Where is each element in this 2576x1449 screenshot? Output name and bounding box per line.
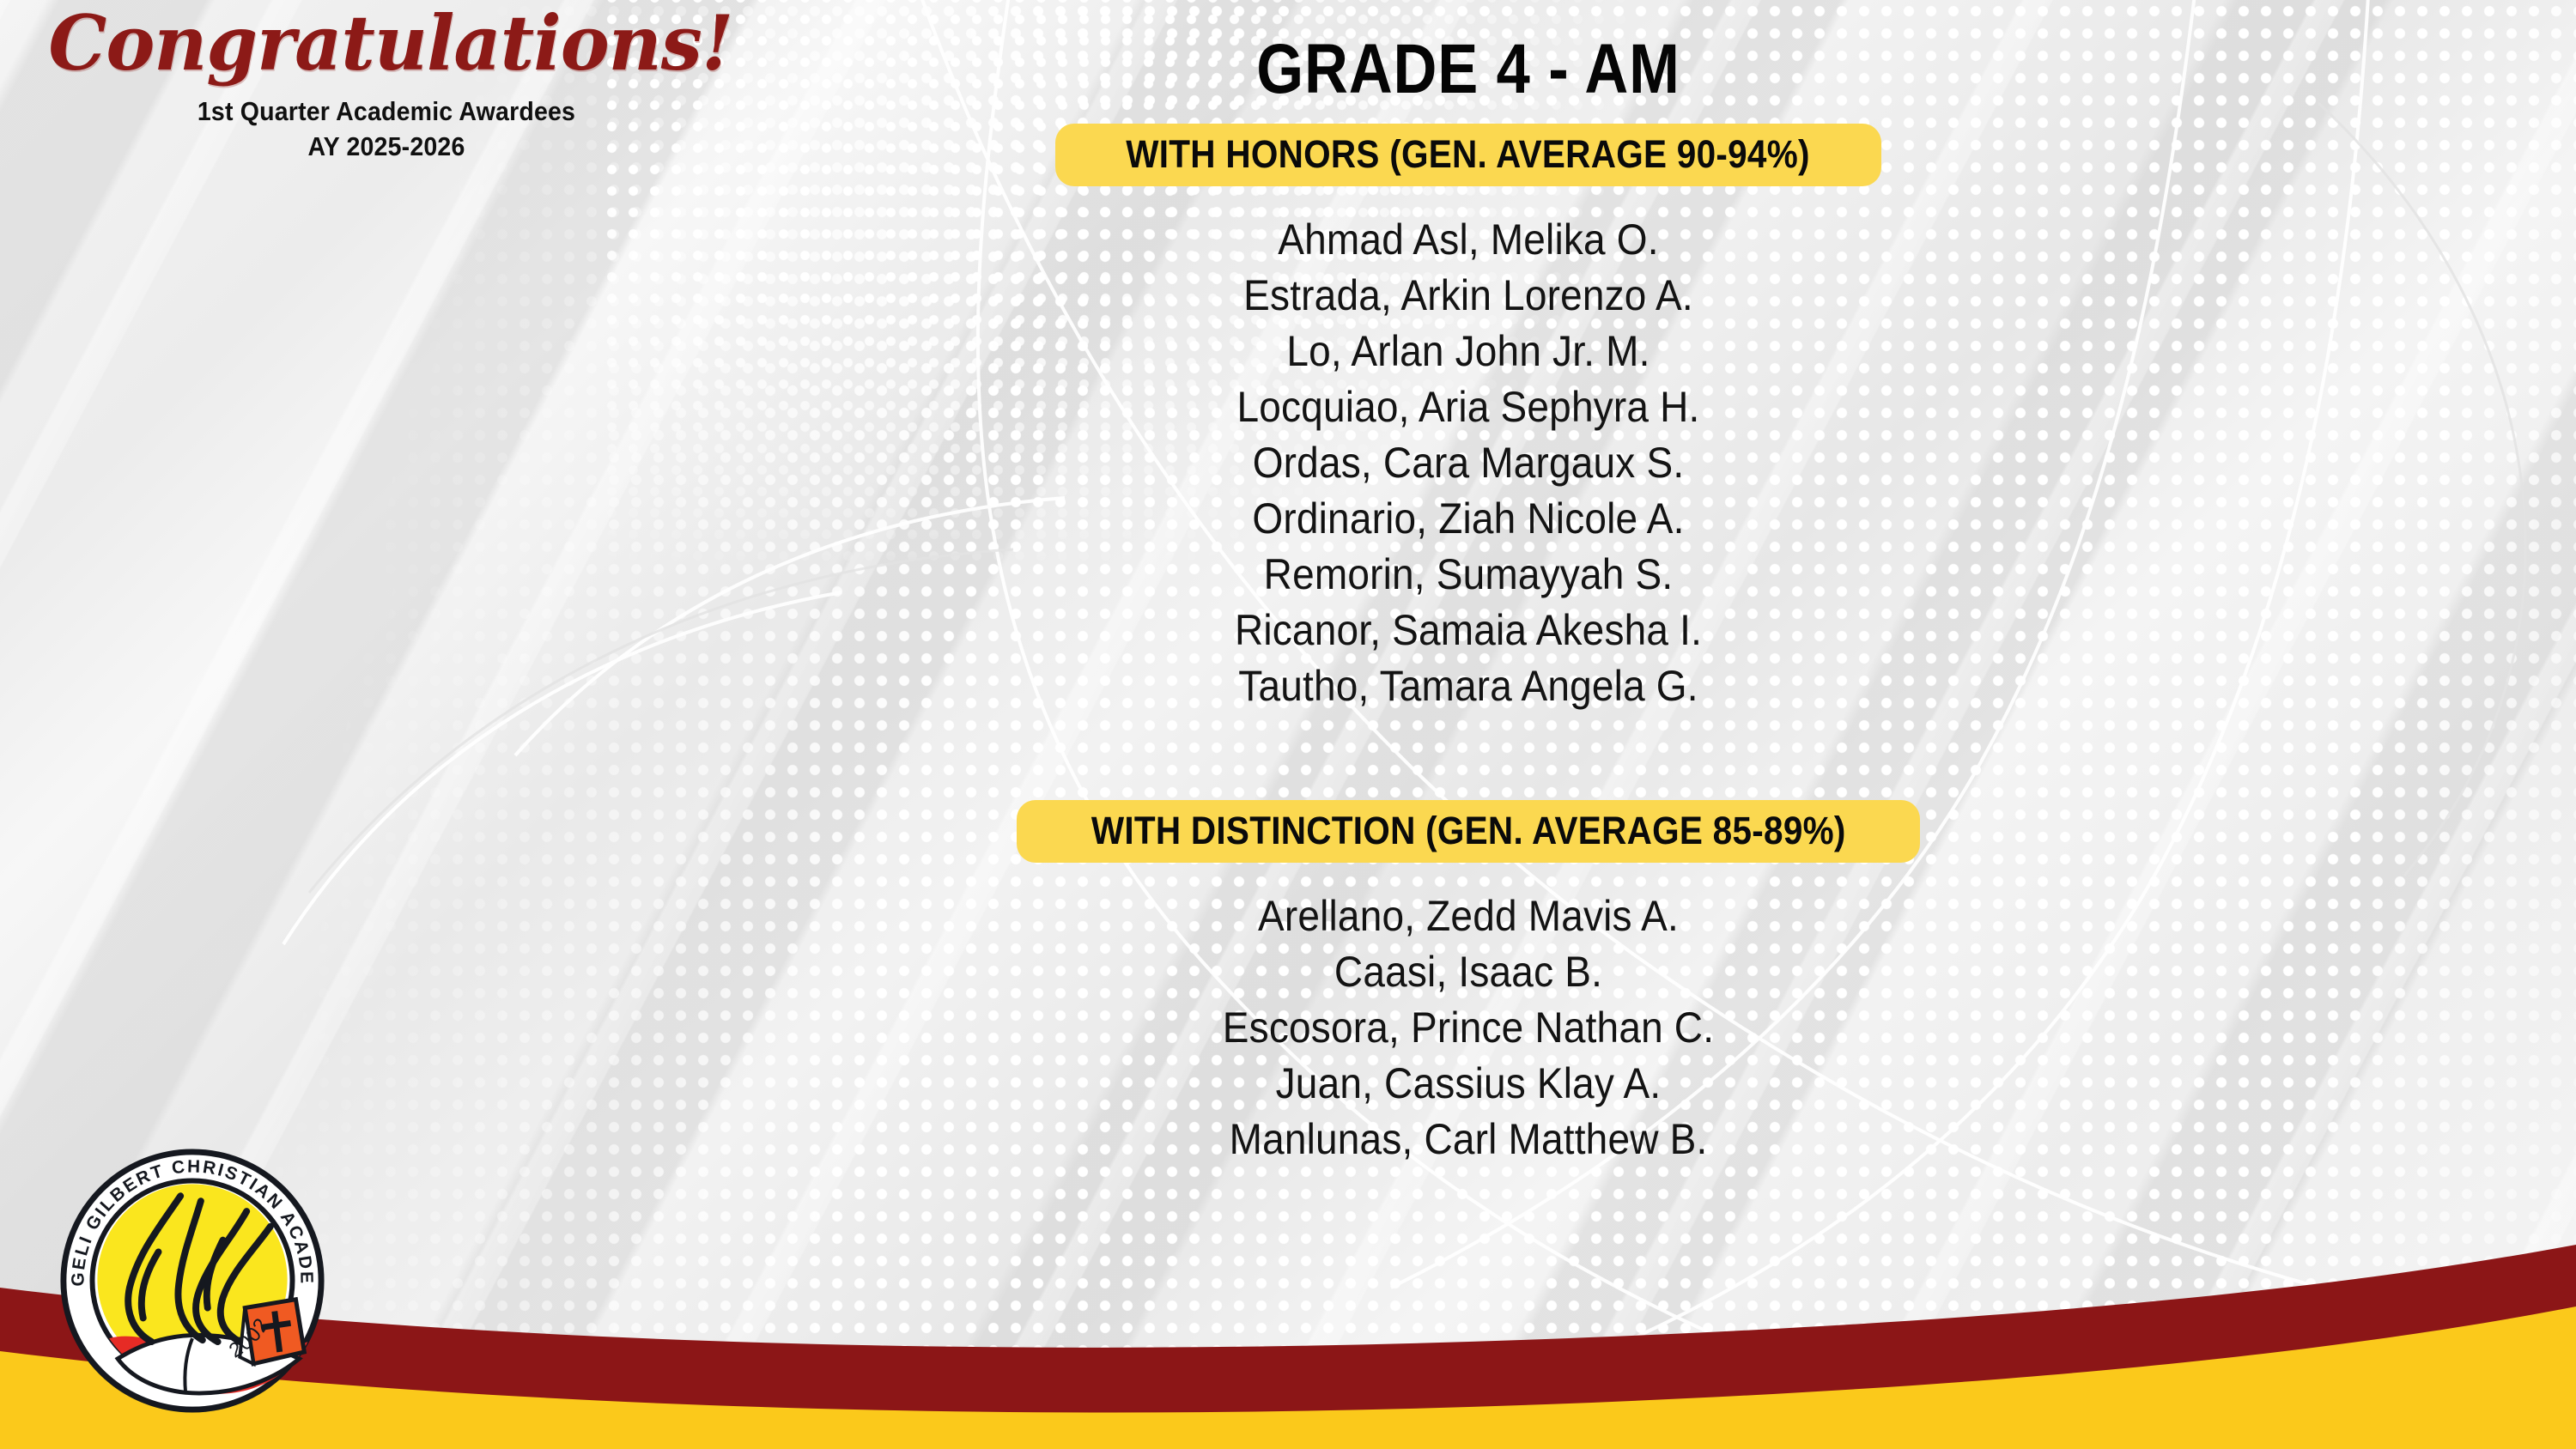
with-distinction-badge-label: WITH DISTINCTION (GEN. AVERAGE 85-89%) <box>1091 811 1846 850</box>
list-item: Manlunas, Carl Matthew B. <box>797 1112 2140 1167</box>
congratulations-heading: Congratulations! <box>12 5 762 81</box>
grade-title: GRADE 4 - AM <box>841 34 2096 105</box>
with-distinction-name-list: Arellano, Zedd Mavis A. Caasi, Isaac B. … <box>738 888 2198 1167</box>
with-honors-badge: WITH HONORS (GEN. AVERAGE 90-94%) <box>1055 124 1880 186</box>
main-content: GRADE 4 - AM WITH HONORS (GEN. AVERAGE 9… <box>738 34 2198 1167</box>
section-with-honors: WITH HONORS (GEN. AVERAGE 90-94%) Ahmad … <box>738 124 2198 714</box>
header-subtitle: 1st Quarter Academic Awardees AY 2025-20… <box>31 94 742 165</box>
list-item: Arellano, Zedd Mavis A. <box>797 888 2140 944</box>
with-honors-badge-label: WITH HONORS (GEN. AVERAGE 90-94%) <box>1127 135 1811 173</box>
list-item: Ordinario, Ziah Nicole A. <box>797 491 2140 547</box>
with-distinction-badge-row: WITH DISTINCTION (GEN. AVERAGE 85-89%) <box>738 800 2198 863</box>
list-item: Escosora, Prince Nathan C. <box>797 1000 2140 1056</box>
bottom-ribbon <box>0 1191 2576 1449</box>
awardee-poster: Congratulations! 1st Quarter Academic Aw… <box>0 0 2576 1449</box>
list-item: Juan, Cassius Klay A. <box>797 1056 2140 1112</box>
list-item: Caasi, Isaac B. <box>797 944 2140 1000</box>
with-honors-name-list: Ahmad Asl, Melika O. Estrada, Arkin Lore… <box>738 212 2198 714</box>
school-logo: ANGELI GILBERT CHRISTIAN ACADEMY 2002 <box>57 1145 328 1416</box>
list-item: Lo, Arlan John Jr. M. <box>797 324 2140 379</box>
subtitle-line-year: AY 2025-2026 <box>31 130 742 165</box>
list-item: Remorin, Sumayyah S. <box>797 547 2140 603</box>
list-item: Locquiao, Aria Sephyra H. <box>797 379 2140 435</box>
list-item: Ahmad Asl, Melika O. <box>797 212 2140 268</box>
section-spacer <box>738 714 2198 781</box>
list-item: Ricanor, Samaia Akesha I. <box>797 603 2140 658</box>
subtitle-line-quarter: 1st Quarter Academic Awardees <box>31 94 742 130</box>
header-left-block: Congratulations! 1st Quarter Academic Aw… <box>0 5 773 165</box>
with-honors-badge-row: WITH HONORS (GEN. AVERAGE 90-94%) <box>738 124 2198 186</box>
list-item: Tautho, Tamara Angela G. <box>797 658 2140 714</box>
list-item: Ordas, Cara Margaux S. <box>797 435 2140 491</box>
section-with-distinction: WITH DISTINCTION (GEN. AVERAGE 85-89%) A… <box>738 800 2198 1167</box>
with-distinction-badge: WITH DISTINCTION (GEN. AVERAGE 85-89%) <box>1017 800 1920 863</box>
list-item: Estrada, Arkin Lorenzo A. <box>797 268 2140 324</box>
